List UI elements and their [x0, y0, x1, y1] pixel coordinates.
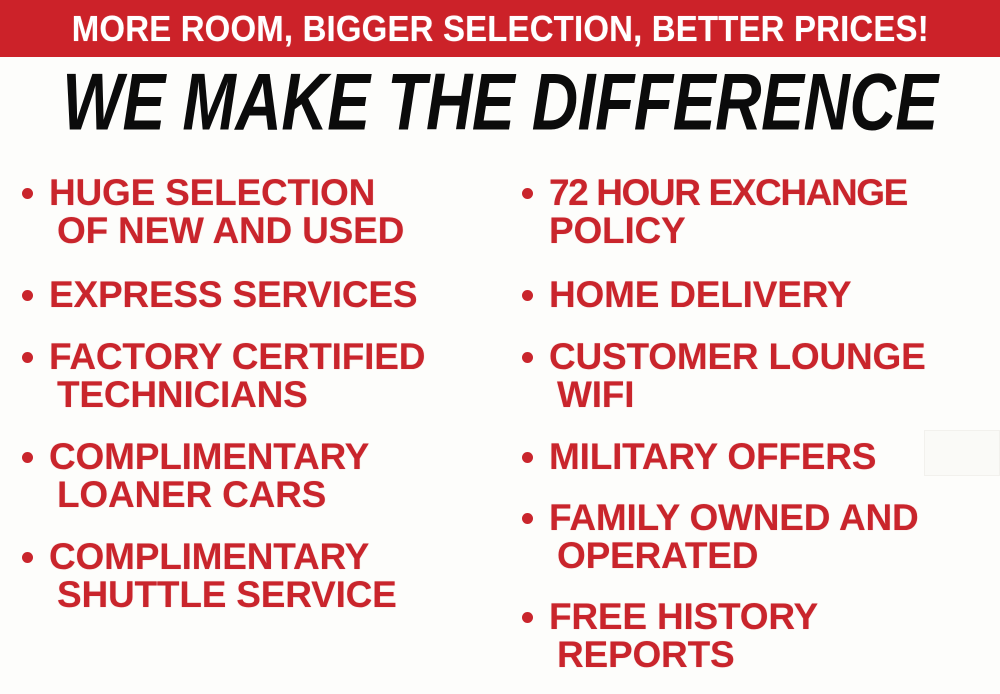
page-title: WE MAKE THE DIFFERENCE [62, 63, 938, 144]
promo-banner: MORE ROOM, BIGGER SELECTION, BETTER PRIC… [0, 0, 1000, 57]
list-item-line1: FACTORY CERTIFIED [49, 336, 425, 377]
list-item-line1: HOME DELIVERY [549, 274, 851, 315]
list-item: FAMILY OWNED AND OPERATED [522, 499, 1000, 575]
list-item: COMPLIMENTARY SHUTTLE SERVICE [22, 538, 500, 614]
list-item-text: HOME DELIVERY [549, 276, 1000, 314]
list-item-line1: EXPRESS SERVICES [49, 274, 417, 315]
list-item-text: FACTORY CERTIFIED TECHNICIANS [49, 338, 500, 414]
bullet-dot-icon [22, 188, 33, 199]
list-item-line1: FREE HISTORY [549, 596, 818, 637]
list-item-line2: SHUTTLE SERVICE [49, 576, 500, 614]
list-item: HUGE SELECTION OF NEW AND USED [22, 174, 500, 250]
list-item-line1: COMPLIMENTARY [49, 536, 369, 577]
bullet-dot-icon [522, 452, 533, 463]
list-item-line2: TECHNICIANS [49, 376, 500, 414]
list-item: COMPLIMENTARY LOANER CARS [22, 438, 500, 514]
feature-column-left: HUGE SELECTION OF NEW AND USED EXPRESS S… [0, 160, 500, 694]
bullet-dot-icon [522, 188, 533, 199]
list-item-text: CUSTOMER LOUNGE WIFI [549, 338, 1000, 414]
list-item: HOME DELIVERY [522, 276, 1000, 314]
list-item: EXPRESS SERVICES [22, 276, 500, 314]
list-item: 72 HOUR EXCHANGE POLICY [522, 174, 1000, 250]
list-item-line1: FAMILY OWNED AND [549, 497, 919, 538]
feature-column-right: 72 HOUR EXCHANGE POLICY HOME DELIVERY CU… [500, 160, 1000, 694]
list-item-line1: MILITARY OFFERS [549, 436, 876, 477]
list-item: FREE HISTORY REPORTS [522, 598, 1000, 674]
bullet-dot-icon [22, 290, 33, 301]
list-item-text: FREE HISTORY REPORTS [549, 598, 1000, 674]
list-item-line2: OPERATED [549, 537, 1000, 575]
list-item-line1: COMPLIMENTARY [49, 436, 369, 477]
bullet-dot-icon [22, 452, 33, 463]
bullet-dot-icon [522, 612, 533, 623]
list-item-line2: LOANER CARS [49, 476, 500, 514]
promo-poster: MORE ROOM, BIGGER SELECTION, BETTER PRIC… [0, 0, 1000, 694]
list-item: MILITARY OFFERS [522, 438, 1000, 476]
list-item: FACTORY CERTIFIED TECHNICIANS [22, 338, 500, 414]
list-item: CUSTOMER LOUNGE WIFI [522, 338, 1000, 414]
bullet-dot-icon [22, 552, 33, 563]
list-item-line2: WIFI [549, 376, 1000, 414]
list-item-text: 72 HOUR EXCHANGE POLICY [549, 174, 1000, 250]
list-item-line2: OF NEW AND USED [49, 212, 500, 250]
list-item-text: FAMILY OWNED AND OPERATED [549, 499, 1000, 575]
list-item-text: EXPRESS SERVICES [49, 276, 500, 314]
headline-container: WE MAKE THE DIFFERENCE [0, 62, 1000, 144]
list-item-text: MILITARY OFFERS [549, 438, 1000, 476]
bullet-dot-icon [22, 352, 33, 363]
bullet-dot-icon [522, 352, 533, 363]
list-item-text: COMPLIMENTARY LOANER CARS [49, 438, 500, 514]
list-item-line2: REPORTS [549, 636, 1000, 674]
bullet-dot-icon [522, 513, 533, 524]
list-item-line1: CUSTOMER LOUNGE [549, 336, 926, 377]
feature-columns: HUGE SELECTION OF NEW AND USED EXPRESS S… [0, 160, 1000, 694]
bullet-dot-icon [522, 290, 533, 301]
list-item-line1: HUGE SELECTION [49, 172, 375, 213]
promo-banner-text: MORE ROOM, BIGGER SELECTION, BETTER PRIC… [71, 11, 928, 47]
list-item-line2: POLICY [549, 212, 1000, 250]
list-item-line1: 72 HOUR EXCHANGE [549, 174, 1000, 212]
list-item-text: HUGE SELECTION OF NEW AND USED [49, 174, 500, 250]
list-item-text: COMPLIMENTARY SHUTTLE SERVICE [49, 538, 500, 614]
